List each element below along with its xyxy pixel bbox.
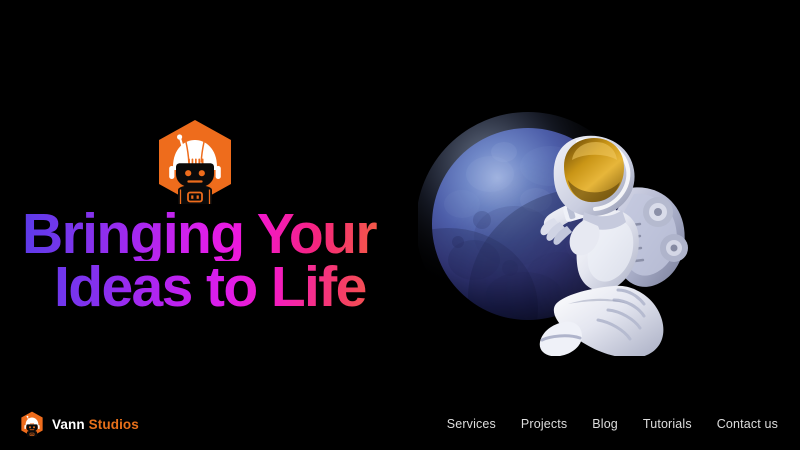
nav-link-blog[interactable]: Blog xyxy=(592,417,618,431)
footer-nav: Services Projects Blog Tutorials Contact… xyxy=(447,417,778,431)
astronaut-hexagon-badge-icon xyxy=(155,118,235,206)
footer-bar: VannStudios Services Projects Blog Tutor… xyxy=(0,398,800,450)
astronaut-hexagon-badge-icon xyxy=(20,411,44,437)
brand-name: VannStudios xyxy=(52,417,139,432)
hero-logo xyxy=(155,118,235,206)
nav-link-projects[interactable]: Projects xyxy=(521,417,567,431)
page-title: Bringing Your Ideas to Life xyxy=(22,208,442,314)
brand-name-primary: Vann xyxy=(52,417,85,432)
astronaut-hugging-moon-illustration xyxy=(418,108,718,356)
brand-name-secondary: Studios xyxy=(89,417,139,432)
hero-page: Bringing Your Ideas to Life xyxy=(0,0,800,450)
nav-link-services[interactable]: Services xyxy=(447,417,496,431)
brand-logo[interactable]: VannStudios xyxy=(20,411,139,437)
nav-link-contact-us[interactable]: Contact us xyxy=(717,417,778,431)
nav-link-tutorials[interactable]: Tutorials xyxy=(643,417,692,431)
headline-line-1: Bringing Your xyxy=(22,208,442,261)
headline-line-2: Ideas to Life xyxy=(54,261,442,314)
